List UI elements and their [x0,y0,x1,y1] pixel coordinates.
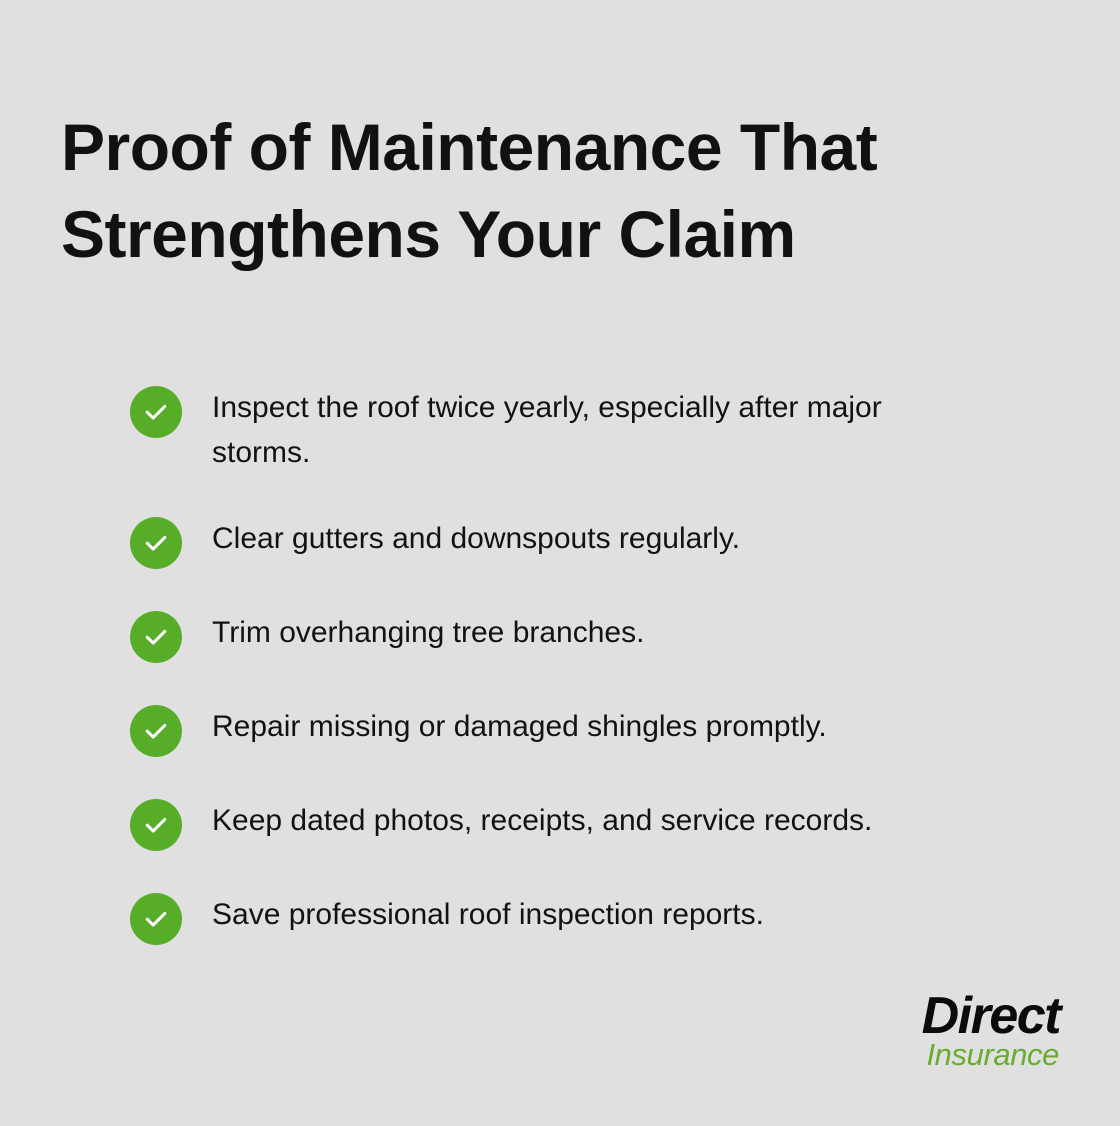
check-icon [130,611,182,663]
maintenance-checklist: Inspect the roof twice yearly, especiall… [130,384,1030,945]
check-icon [130,799,182,851]
check-icon [130,705,182,757]
list-item-label: Repair missing or damaged shingles promp… [212,703,827,749]
page-title-line-1: Proof of Maintenance That [61,104,961,191]
list-item-label: Inspect the roof twice yearly, especiall… [212,384,982,475]
list-item-label: Save professional roof inspection report… [212,891,764,937]
page-title-line-2: Strengthens Your Claim [61,191,961,278]
check-icon [130,517,182,569]
page-title: Proof of Maintenance That Strengthens Yo… [61,104,961,278]
brand-logo-primary: Direct [898,993,1060,1039]
infographic-card: Proof of Maintenance That Strengthens Yo… [0,0,1120,1126]
list-item: Inspect the roof twice yearly, especiall… [130,384,1030,475]
list-item-label: Trim overhanging tree branches. [212,609,644,655]
check-icon [130,893,182,945]
list-item: Clear gutters and downspouts regularly. [130,515,1030,569]
list-item: Repair missing or damaged shingles promp… [130,703,1030,757]
list-item-label: Keep dated photos, receipts, and service… [212,797,872,843]
list-item-label: Clear gutters and downspouts regularly. [212,515,740,561]
list-item: Save professional roof inspection report… [130,891,1030,945]
check-icon [130,386,182,438]
list-item: Keep dated photos, receipts, and service… [130,797,1030,851]
list-item: Trim overhanging tree branches. [130,609,1030,663]
brand-logo: Direct Insurance [898,993,1060,1071]
